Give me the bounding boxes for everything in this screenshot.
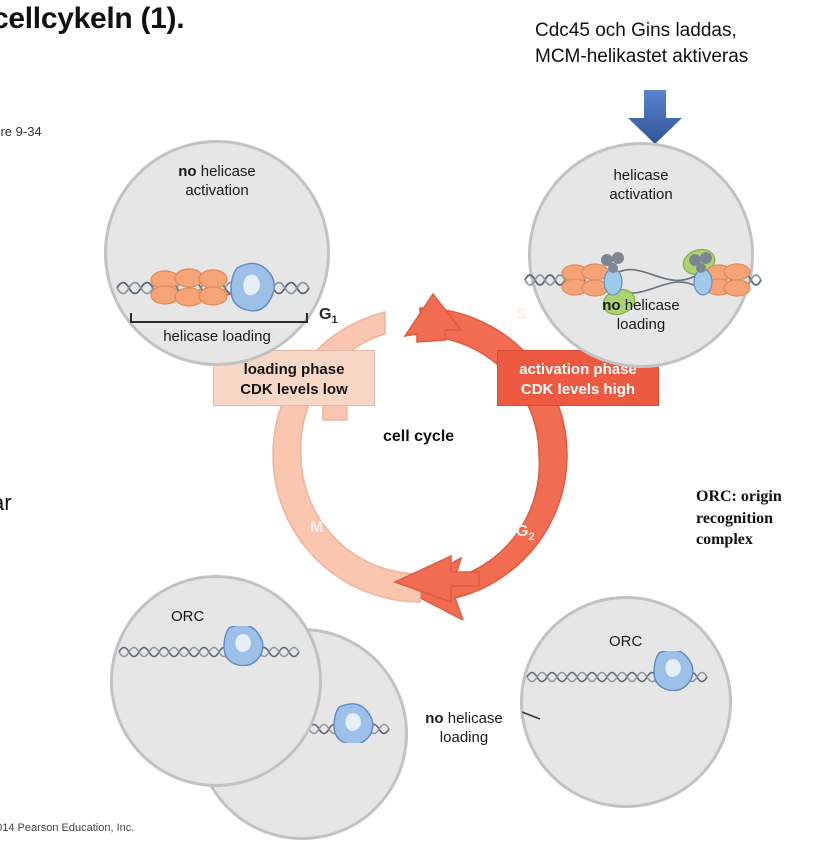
cell-diagram-g1: no helicase activation helicase loading	[104, 140, 330, 366]
cell-cycle-center-label: cell cycle	[383, 428, 454, 446]
s-bottom-rest: helicase	[621, 297, 680, 314]
s-cell-caption: helicase activation	[531, 167, 751, 205]
s-caption-line-2: activation	[609, 186, 672, 203]
orc-legend-line-1: ORC: origin	[696, 486, 826, 508]
phase-label-g1: G1	[319, 306, 338, 326]
g2-orc-tag: ORC	[609, 633, 642, 650]
orc-legend-line-3: complex	[696, 529, 826, 551]
mid-label-line-2: loading	[440, 729, 488, 746]
activation-phase-line-2: CDK levels high	[504, 380, 652, 400]
m-orc-tag: ORC	[171, 608, 204, 625]
g1-bracket-label: helicase loading	[107, 328, 327, 345]
no-helicase-loading-label: no helicase loading	[404, 710, 524, 748]
g1-caption-line-2: activation	[185, 182, 248, 199]
orc-legend-line-2: recognition	[696, 508, 826, 530]
cell-diagram-m-mother: ORC	[110, 575, 322, 787]
phase-label-g2: G2	[516, 523, 535, 543]
g1-dna-mcm-orc-illustration	[115, 248, 320, 318]
g1-cell-caption: no helicase activation	[107, 163, 327, 201]
figure-caption: gure 9-34	[0, 124, 42, 139]
down-arrow-icon	[620, 88, 690, 146]
annotation-line-2: MCM-helikastet aktiveras	[535, 44, 825, 70]
page-title: cellcykeln (1).	[0, 2, 184, 36]
s-bottom-bold: no	[602, 297, 620, 314]
orc-legend: ORC: origin recognition complex	[696, 486, 826, 551]
leader-line-right-icon	[522, 708, 542, 724]
s-caption-line-1: helicase	[613, 167, 668, 184]
g1-bracket-icon	[129, 311, 309, 325]
g2-dna-orc-illustration	[525, 651, 729, 691]
copyright-notice: 2014 Pearson Education, Inc.	[0, 822, 134, 834]
annotation-callout: Cdc45 och Gins laddas, MCM-helikastet ak…	[535, 18, 825, 69]
g1-caption-bold: no	[178, 163, 196, 180]
phase-label-m: M	[310, 519, 323, 537]
mid-label-bold: no	[425, 710, 443, 727]
left-margin-note-line1: ar	[0, 490, 12, 516]
mid-label-rest: helicase	[444, 710, 503, 727]
g1-caption-rest: helicase	[197, 163, 256, 180]
annotation-line-1: Cdc45 och Gins laddas,	[535, 18, 825, 44]
cell-diagram-s: helicase activation no helicase lo	[528, 142, 754, 368]
s-cell-bottom-caption: no helicase loading	[531, 297, 751, 335]
loading-phase-line-2: CDK levels low	[220, 380, 368, 400]
cell-diagram-g2: ORC	[520, 596, 732, 808]
m-mother-dna-orc-illustration	[117, 626, 317, 666]
s-bottom-line-2: loading	[617, 316, 665, 333]
